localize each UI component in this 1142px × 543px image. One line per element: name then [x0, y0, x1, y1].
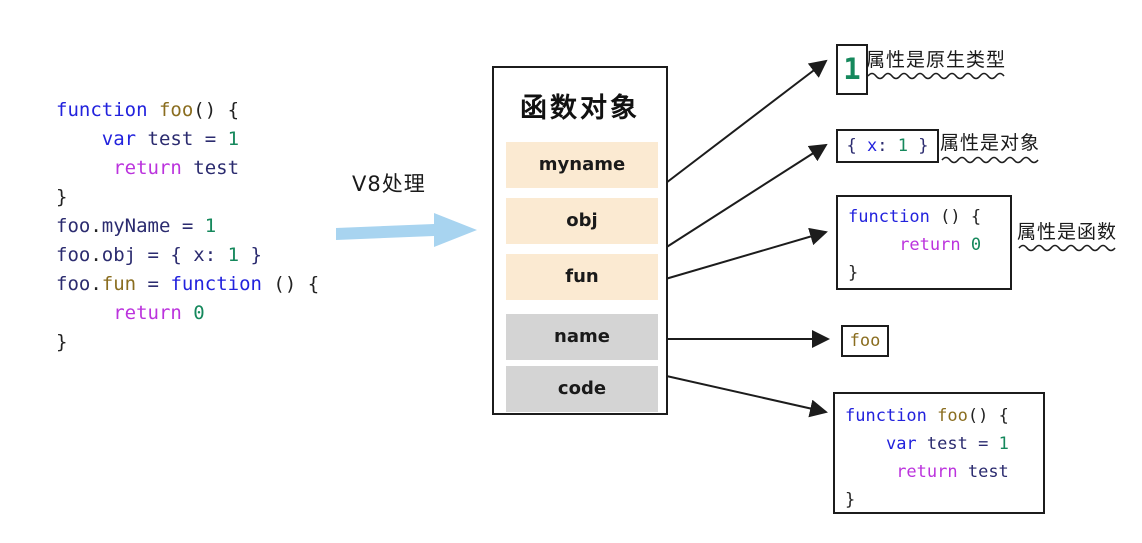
source-code-l5-token-0: foo: [56, 244, 90, 266]
source-code-l2-token-0: [56, 157, 113, 179]
object-value-token-0: {: [847, 136, 867, 156]
connector-obj-to-object: [662, 145, 826, 250]
function-value-box: function () { return 0}: [836, 195, 1012, 290]
function-object-row-fun[interactable]: fun: [506, 254, 658, 300]
source-code-l5-token-2: obj: [102, 244, 136, 266]
source-code-l1-token-3: 1: [228, 128, 239, 150]
code-value-l0-token-1: [927, 406, 937, 426]
function-object-title: 函数对象: [494, 86, 666, 125]
source-code-l1-token-2: test =: [136, 128, 228, 150]
code-value-l0-token-2: foo: [937, 406, 968, 426]
annotation-primitive-type: 属性是原生类型: [866, 45, 1006, 72]
source-code-l6-token-1: .: [90, 273, 101, 295]
source-code-l5-token-3: = { x:: [136, 244, 228, 266]
squiggle-function: [1019, 246, 1115, 251]
function-value-l1-token-1: return: [899, 235, 960, 255]
source-code-l6-token-2: fun: [102, 273, 136, 295]
code-value-l2-token-0: [845, 462, 896, 482]
source-code-l8-token-0: }: [56, 331, 67, 353]
function-object-row-myname[interactable]: myname: [506, 142, 658, 188]
v8-process-label: V8处理: [352, 168, 426, 198]
function-object-box: 函数对象 mynameobjfunnamecode: [492, 66, 668, 415]
source-code-l2-token-1: return: [113, 157, 182, 179]
source-code-l5-token-4: 1: [228, 244, 239, 266]
code-value-line-0: function foo() {: [845, 402, 1043, 430]
annotation-function-type: 属性是函数: [1017, 217, 1117, 244]
source-code-l1-token-1: var: [102, 128, 136, 150]
source-code-l4-token-0: foo: [56, 215, 90, 237]
object-value-token-4: }: [908, 136, 928, 156]
source-code-l6-token-5: () {: [262, 273, 319, 295]
source-code-l0-token-3: () {: [193, 99, 239, 121]
source-code-line-4: foo.myName = 1: [56, 212, 319, 241]
source-code-l7-token-1: return: [113, 302, 182, 324]
code-value-line-1: var test = 1: [845, 430, 1043, 458]
connector-code-to-source: [662, 375, 826, 412]
source-code-line-5: foo.obj = { x: 1 }: [56, 241, 319, 270]
code-value-l2-token-2: test: [958, 462, 1009, 482]
source-code-l7-token-0: [56, 302, 113, 324]
code-value-l0-token-0: function: [845, 406, 927, 426]
source-code-l6-token-4: function: [170, 273, 262, 295]
v8-blue-arrow: [336, 213, 477, 247]
code-value-line-2: return test: [845, 458, 1043, 486]
annotation-object-type: 属性是对象: [940, 128, 1040, 155]
source-code-l4-token-4: 1: [205, 215, 216, 237]
function-value-l1-token-2: [961, 235, 971, 255]
source-code-l5-token-1: .: [90, 244, 101, 266]
source-code-line-6: foo.fun = function () {: [56, 270, 319, 299]
function-object-row-obj[interactable]: obj: [506, 198, 658, 244]
function-value-line-1: return 0: [848, 231, 1010, 259]
code-value-l3-token-0: }: [845, 490, 855, 510]
squiggle-object: [942, 158, 1038, 163]
function-value-line-2: }: [848, 259, 1010, 287]
code-value-l1-token-1: var: [886, 434, 917, 454]
code-value-l1-token-0: [845, 434, 886, 454]
function-value-l0-token-1: () {: [930, 207, 981, 227]
source-code-l4-token-1: .: [90, 215, 101, 237]
code-value-l1-token-3: 1: [999, 434, 1009, 454]
function-object-row-code[interactable]: code: [506, 366, 658, 412]
code-value-box: function foo() { var test = 1 return tes…: [833, 392, 1045, 514]
source-code-line-2: return test: [56, 154, 319, 183]
connector-myname-to-primitive: [662, 61, 826, 186]
source-code-l6-token-3: =: [136, 273, 170, 295]
source-code-l0-token-2: foo: [159, 99, 193, 121]
source-code-line-8: }: [56, 328, 319, 357]
function-value-l1-token-0: [848, 235, 899, 255]
object-value-box: { x: 1 }: [836, 129, 939, 163]
object-value-token-3: 1: [898, 136, 908, 156]
diagram-canvas: function foo() { var test = 1 return tes…: [0, 0, 1142, 543]
source-code-block: function foo() { var test = 1 return tes…: [56, 96, 319, 357]
source-code-l7-token-3: 0: [193, 302, 204, 324]
squiggle-primitive: [868, 74, 1004, 79]
name-value-box: foo: [841, 325, 889, 357]
source-code-l7-token-2: [182, 302, 193, 324]
source-code-l1-token-0: [56, 128, 102, 150]
source-code-l4-token-2: myName: [102, 215, 171, 237]
code-value-l0-token-3: () {: [968, 406, 1009, 426]
source-code-line-1: var test = 1: [56, 125, 319, 154]
code-value-line-3: }: [845, 486, 1043, 514]
source-code-line-3: }: [56, 183, 319, 212]
source-code-l5-token-5: }: [239, 244, 262, 266]
source-code-l0-token-0: function: [56, 99, 148, 121]
function-value-l1-token-3: 0: [971, 235, 981, 255]
object-value-token-1: x: [867, 136, 877, 156]
source-code-l3-token-0: }: [56, 186, 67, 208]
function-value-line-0: function () {: [848, 203, 1010, 231]
source-code-line-7: return 0: [56, 299, 319, 328]
primitive-value-box: 1: [836, 44, 868, 95]
function-value-l0-token-0: function: [848, 207, 930, 227]
source-code-l4-token-3: =: [170, 215, 204, 237]
function-object-row-name[interactable]: name: [506, 314, 658, 360]
object-value-token-2: :: [877, 136, 897, 156]
code-value-l2-token-1: return: [896, 462, 957, 482]
connector-fun-to-function: [662, 232, 826, 280]
source-code-l2-token-2: test: [182, 157, 239, 179]
function-value-l2-token-0: }: [848, 263, 858, 283]
source-code-l6-token-0: foo: [56, 273, 90, 295]
source-code-line-0: function foo() {: [56, 96, 319, 125]
source-code-l0-token-1: [148, 99, 159, 121]
code-value-l1-token-2: test =: [917, 434, 999, 454]
